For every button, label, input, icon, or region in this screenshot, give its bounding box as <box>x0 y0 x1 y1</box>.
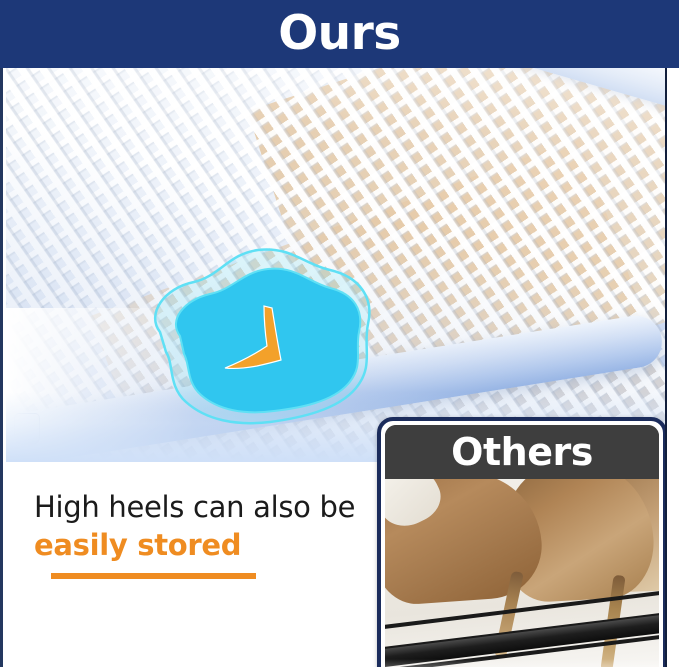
others-panel-inner: Others <box>385 425 659 667</box>
others-header-bar: Others <box>385 425 659 479</box>
heel-shoe-opening <box>385 479 448 535</box>
ours-title: Ours <box>278 10 401 57</box>
ours-header-bar: Ours <box>0 0 679 68</box>
main-product-photo <box>6 68 667 462</box>
caption-underline-bar <box>51 573 256 579</box>
cyan-highlight-blob <box>124 236 384 436</box>
others-comparison-panel: Others <box>377 417 667 667</box>
others-product-photo <box>385 479 659 667</box>
caption-line-1: High heels can also be <box>34 490 355 524</box>
caption-line-2: easily stored <box>34 528 241 562</box>
photo-bottom-fade <box>385 659 659 667</box>
comparison-infographic: Ours High heel <box>0 0 679 667</box>
others-title: Others <box>451 433 593 471</box>
card-frame: High heels can also be easily stored Oth… <box>0 68 667 667</box>
